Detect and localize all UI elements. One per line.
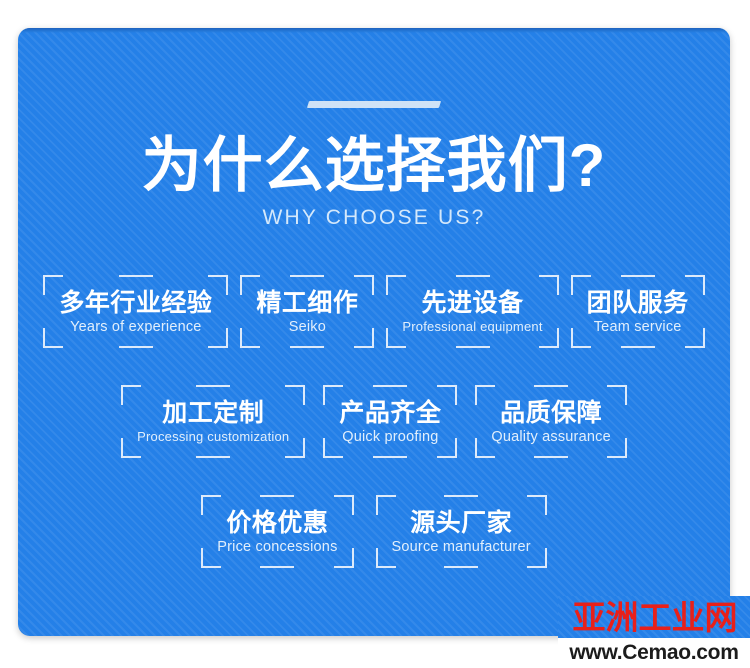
bracket-top-left-v	[201, 495, 203, 515]
feature-title-cn: 产品齐全	[339, 399, 441, 427]
bracket-bottom-right-h	[354, 346, 374, 348]
feature-title-cn: 先进设备	[402, 289, 542, 317]
bracket-bottom-right-h	[539, 346, 559, 348]
bracket-top-dash	[621, 275, 655, 277]
feature-row-3: 价格优惠 Price concessions 源头厂家 Source manuf…	[18, 495, 730, 568]
bracket-bottom-left-v	[475, 438, 477, 458]
feature-title-en: Years of experience	[59, 320, 212, 336]
bracket-bottom-right-v	[703, 328, 705, 348]
bracket-bottom-dash	[444, 566, 478, 568]
bracket-top-dash	[196, 385, 230, 387]
bracket-top-dash	[119, 275, 153, 277]
feature-badge: 精工细作 Seiko	[240, 275, 374, 348]
bracket-top-left-h	[240, 275, 260, 277]
bracket-bottom-right-h	[437, 456, 457, 458]
bracket-bottom-right-v	[303, 438, 305, 458]
feature-badge: 多年行业经验 Years of experience	[43, 275, 228, 348]
feature-title-cn: 加工定制	[137, 399, 289, 427]
bracket-top-left-v	[475, 385, 477, 405]
bracket-top-right-v	[455, 385, 457, 405]
bracket-bottom-left-h	[475, 456, 495, 458]
feature-title-en: Professional equipment	[402, 320, 542, 334]
bracket-top-left-v	[376, 495, 378, 515]
bracket-top-right-v	[703, 275, 705, 295]
bracket-top-right-v	[352, 495, 354, 515]
bracket-top-right-h	[527, 495, 547, 497]
watermark-brand-cn: 亚洲工业网	[567, 596, 743, 640]
bracket-top-dash	[373, 385, 407, 387]
bracket-bottom-right-h	[527, 566, 547, 568]
bracket-bottom-dash	[260, 566, 294, 568]
blue-feature-panel: 为什么选择我们? WHY CHOOSE US? 多年行业经验	[18, 28, 730, 636]
bracket-bottom-right-h	[607, 456, 627, 458]
feature-badge: 品质保障 Quality assurance	[475, 385, 626, 458]
bracket-bottom-left-v	[323, 438, 325, 458]
bracket-top-left-h	[571, 275, 591, 277]
bracket-bottom-right-h	[685, 346, 705, 348]
site-watermark: 亚洲工业网 www.Cemao.com	[558, 596, 750, 668]
bracket-bottom-left-v	[201, 548, 203, 568]
bracket-top-left-h	[475, 385, 495, 387]
bracket-top-right-v	[226, 275, 228, 295]
bracket-top-right-h	[685, 275, 705, 277]
feature-badge: 产品齐全 Quick proofing	[323, 385, 457, 458]
feature-row-1: 多年行业经验 Years of experience 精工细作 Seiko	[18, 275, 730, 348]
bracket-top-right-v	[625, 385, 627, 405]
bracket-top-right-v	[372, 275, 374, 295]
bracket-top-left-h	[376, 495, 396, 497]
bracket-top-right-v	[545, 495, 547, 515]
bracket-bottom-left-h	[240, 346, 260, 348]
feature-title-en: Source manufacturer	[392, 540, 531, 556]
feature-title-cn: 团队服务	[587, 289, 689, 317]
bracket-bottom-right-v	[545, 548, 547, 568]
bracket-bottom-right-h	[334, 566, 354, 568]
bracket-bottom-left-v	[571, 328, 573, 348]
bracket-top-dash	[456, 275, 490, 277]
bracket-top-right-v	[303, 385, 305, 405]
bracket-bottom-dash	[373, 456, 407, 458]
bracket-bottom-right-v	[352, 548, 354, 568]
feature-title-cn: 品质保障	[491, 399, 610, 427]
feature-badge-grid: 多年行业经验 Years of experience 精工细作 Seiko	[18, 28, 730, 636]
bracket-top-left-h	[386, 275, 406, 277]
feature-title-en: Price concessions	[217, 540, 337, 556]
bracket-bottom-right-v	[372, 328, 374, 348]
bracket-top-right-h	[539, 275, 559, 277]
bracket-bottom-left-v	[376, 548, 378, 568]
bracket-bottom-left-v	[121, 438, 123, 458]
bracket-top-right-h	[437, 385, 457, 387]
feature-row-2: 加工定制 Processing customization 产品齐全 Quick	[18, 385, 730, 458]
bracket-top-left-v	[240, 275, 242, 295]
feature-title-cn: 源头厂家	[392, 509, 531, 537]
feature-badge: 价格优惠 Price concessions	[201, 495, 353, 568]
bracket-top-left-v	[386, 275, 388, 295]
feature-title-en: Seiko	[256, 320, 358, 336]
bracket-bottom-right-v	[625, 438, 627, 458]
bracket-bottom-dash	[290, 346, 324, 348]
bracket-bottom-left-v	[240, 328, 242, 348]
bracket-top-dash	[290, 275, 324, 277]
bracket-top-right-h	[334, 495, 354, 497]
bracket-bottom-dash	[534, 456, 568, 458]
bracket-bottom-right-h	[285, 456, 305, 458]
feature-badge: 源头厂家 Source manufacturer	[376, 495, 547, 568]
bracket-top-left-v	[323, 385, 325, 405]
feature-badge: 团队服务 Team service	[571, 275, 705, 348]
bracket-bottom-right-v	[226, 328, 228, 348]
feature-title-cn: 多年行业经验	[59, 289, 212, 317]
bracket-bottom-dash	[621, 346, 655, 348]
bracket-bottom-left-h	[386, 346, 406, 348]
bracket-top-left-v	[571, 275, 573, 295]
bracket-bottom-right-h	[208, 346, 228, 348]
bracket-top-left-h	[201, 495, 221, 497]
bracket-bottom-left-h	[121, 456, 141, 458]
feature-title-en: Processing customization	[137, 430, 289, 444]
feature-title-en: Quick proofing	[339, 430, 441, 446]
bracket-bottom-left-v	[43, 328, 45, 348]
bracket-top-right-v	[557, 275, 559, 295]
page-background: 为什么选择我们? WHY CHOOSE US? 多年行业经验	[0, 0, 750, 668]
bracket-bottom-dash	[456, 346, 490, 348]
bracket-top-left-h	[323, 385, 343, 387]
bracket-top-left-v	[121, 385, 123, 405]
feature-badge: 加工定制 Processing customization	[121, 385, 305, 458]
bracket-top-right-h	[607, 385, 627, 387]
bracket-top-dash	[534, 385, 568, 387]
bracket-top-left-h	[43, 275, 63, 277]
bracket-bottom-left-h	[43, 346, 63, 348]
bracket-bottom-left-h	[376, 566, 396, 568]
bracket-top-dash	[260, 495, 294, 497]
feature-badge: 先进设备 Professional equipment	[386, 275, 558, 348]
bracket-top-right-h	[354, 275, 374, 277]
bracket-top-left-h	[121, 385, 141, 387]
feature-title-cn: 价格优惠	[217, 509, 337, 537]
watermark-url: www.Cemao.com	[558, 638, 750, 668]
bracket-bottom-dash	[196, 456, 230, 458]
bracket-top-right-h	[285, 385, 305, 387]
bracket-bottom-right-v	[455, 438, 457, 458]
bracket-bottom-left-v	[386, 328, 388, 348]
bracket-bottom-left-h	[323, 456, 343, 458]
feature-title-cn: 精工细作	[256, 289, 358, 317]
bracket-top-left-v	[43, 275, 45, 295]
bracket-bottom-left-h	[571, 346, 591, 348]
bracket-top-right-h	[208, 275, 228, 277]
feature-title-en: Team service	[587, 320, 689, 336]
bracket-top-dash	[444, 495, 478, 497]
bracket-bottom-dash	[119, 346, 153, 348]
feature-title-en: Quality assurance	[491, 430, 610, 446]
bracket-bottom-right-v	[557, 328, 559, 348]
bracket-bottom-left-h	[201, 566, 221, 568]
